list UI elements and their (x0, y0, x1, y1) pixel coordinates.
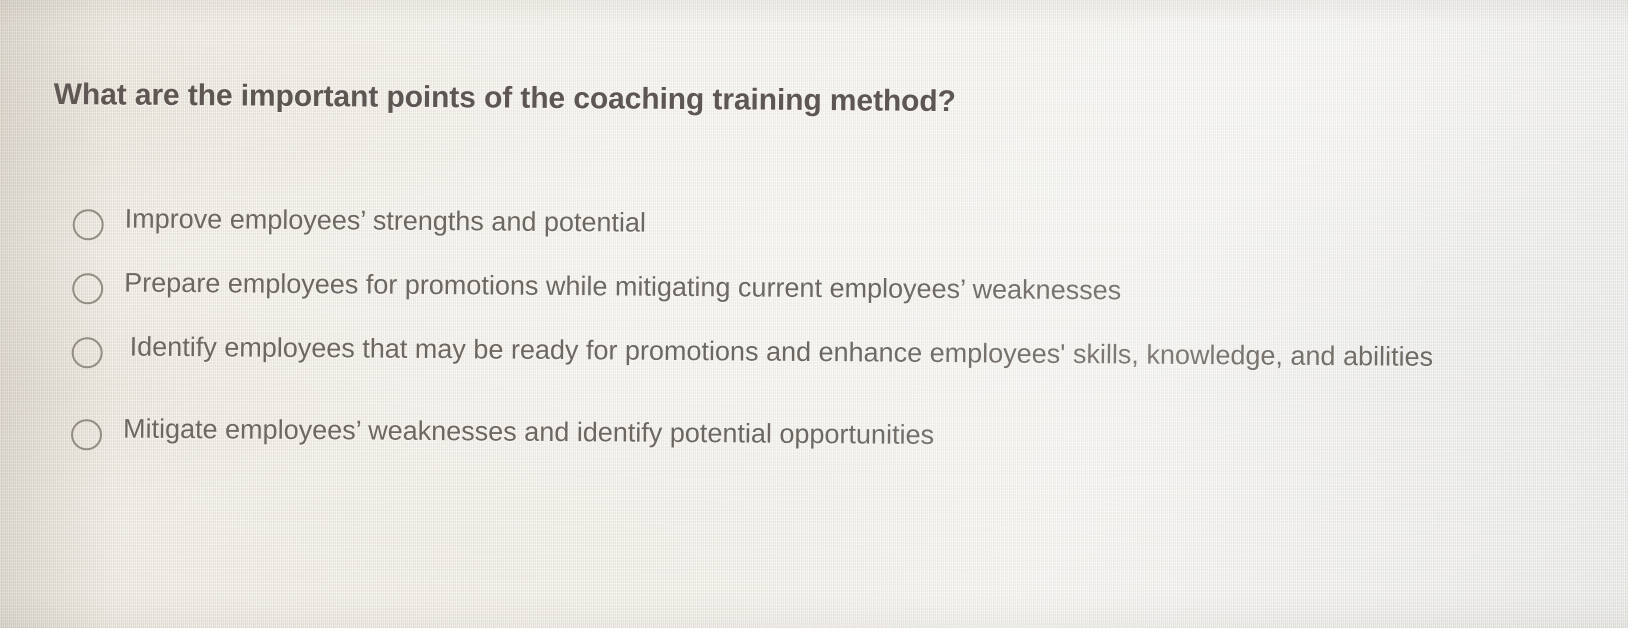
option-row-1[interactable]: Improve employees’ strengths and potenti… (66, 202, 1496, 261)
option-row-4[interactable]: Mitigate employees’ weaknesses and ident… (65, 412, 1495, 471)
page-title: What are the important points of the coa… (54, 78, 956, 119)
option-row-2[interactable]: Prepare employees for promotions while m… (66, 266, 1496, 325)
option-label-2: Prepare employees for promotions while m… (66, 266, 1496, 310)
option-label-1: Improve employees’ strengths and potenti… (67, 202, 1497, 246)
options-list: Improve employees’ strengths and potenti… (65, 202, 1497, 471)
radio-button-icon-4[interactable] (71, 419, 102, 450)
option-label-3: Identify employees that may be ready for… (66, 330, 1496, 374)
question-content: What are the important points of the coa… (0, 0, 1628, 628)
radio-button-icon-3[interactable] (72, 337, 103, 368)
quiz-screenshot: What are the important points of the coa… (0, 0, 1628, 628)
option-label-4: Mitigate employees’ weaknesses and ident… (65, 412, 1495, 456)
option-row-3[interactable]: Identify employees that may be ready for… (65, 330, 1495, 389)
radio-button-icon-2[interactable] (72, 273, 103, 304)
radio-button-icon-1[interactable] (73, 209, 104, 240)
